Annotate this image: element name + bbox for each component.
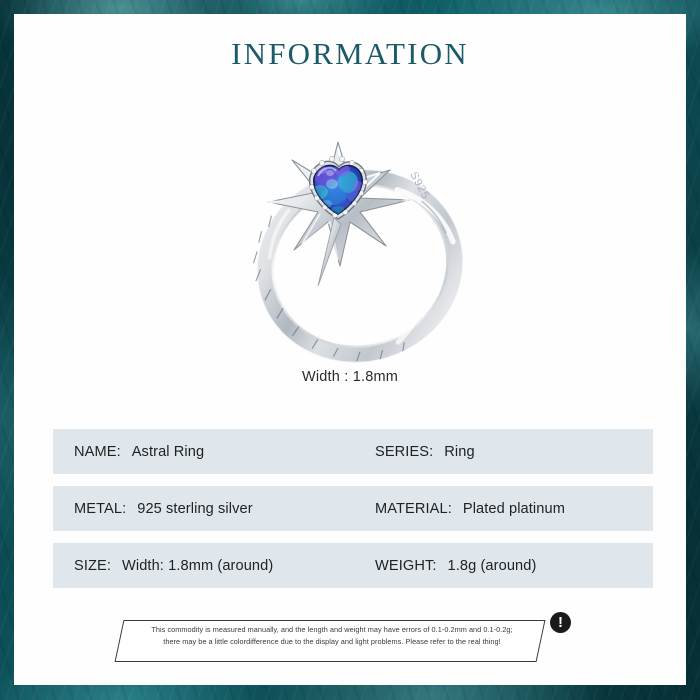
disclaimer-line-1: This commodity is measured manually, and… (137, 624, 527, 636)
table-row: NAME: Astral Ring SERIES: Ring (53, 429, 653, 474)
spec-label: MATERIAL: (375, 501, 452, 517)
page-title: INFORMATION (14, 36, 686, 72)
white-content-card: INFORMATION (14, 14, 686, 685)
spec-label: SIZE: (74, 558, 111, 574)
disclaimer-text: This commodity is measured manually, and… (137, 624, 527, 647)
spec-cell-series: SERIES: Ring (375, 444, 475, 460)
spec-label: NAME: (74, 444, 121, 460)
spec-cell-name: NAME: Astral Ring (74, 444, 204, 460)
spec-cell-size: SIZE: Width: 1.8mm (around) (74, 558, 273, 574)
disclaimer-banner: This commodity is measured manually, and… (119, 612, 539, 662)
spec-label: SERIES: (375, 444, 433, 460)
spec-value: 925 sterling silver (137, 501, 252, 517)
product-information-card: INFORMATION (0, 0, 700, 700)
disclaimer-line-2: there may be a little colordifference du… (137, 636, 527, 648)
spec-label: METAL: (74, 501, 126, 517)
spec-value: Ring (444, 444, 474, 460)
spec-value: 1.8g (around) (448, 558, 537, 574)
ring-illustration: S925 (214, 126, 504, 376)
spec-cell-material: MATERIAL: Plated platinum (375, 501, 565, 517)
spec-cell-weight: WEIGHT: 1.8g (around) (375, 558, 536, 574)
spec-value: Width: 1.8mm (around) (122, 558, 273, 574)
spec-table: NAME: Astral Ring SERIES: Ring METAL: 92… (53, 429, 653, 600)
spec-value: Astral Ring (132, 444, 204, 460)
spec-value: Plated platinum (463, 501, 565, 517)
product-image: S925 (214, 126, 504, 376)
table-row: SIZE: Width: 1.8mm (around) WEIGHT: 1.8g… (53, 543, 653, 588)
spec-label: WEIGHT: (375, 558, 437, 574)
table-row: METAL: 925 sterling silver MATERIAL: Pla… (53, 486, 653, 531)
exclamation-icon: ! (550, 612, 571, 633)
width-caption: Width : 1.8mm (14, 369, 686, 385)
spec-cell-metal: METAL: 925 sterling silver (74, 501, 253, 517)
